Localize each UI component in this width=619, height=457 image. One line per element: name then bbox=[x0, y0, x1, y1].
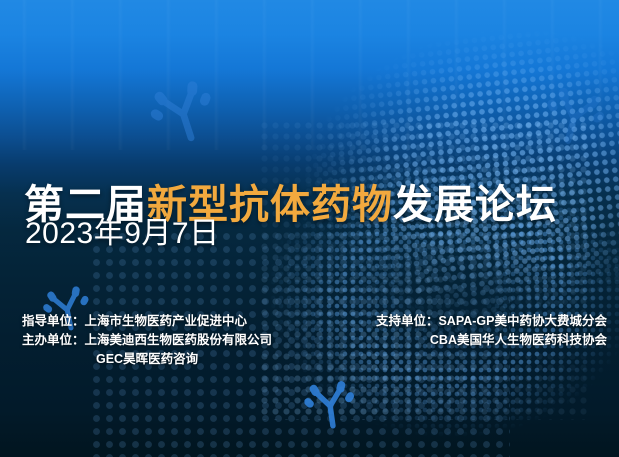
footer-organizers-left: 指导单位：上海市生物医药产业促进中心主办单位：上海美迪西生物医药股份有限公司GE… bbox=[22, 312, 272, 369]
antibody-icon-right-edge bbox=[539, 82, 609, 152]
footer-supporters-right: 支持单位：SAPA-GP美中药协大费城分会CBA美国华人生物医药科技协会 bbox=[376, 312, 607, 350]
footer-line-label: 主办单位： bbox=[22, 333, 85, 347]
event-date: 2023年9月7日 bbox=[25, 216, 220, 252]
antibody-icon-bottom-center bbox=[302, 377, 358, 433]
footer-line-value: 上海美迪西生物医药股份有限公司 bbox=[85, 333, 273, 347]
footer-line: 支持单位：SAPA-GP美中药协大费城分会 bbox=[376, 312, 607, 331]
title-suffix: 发展论坛 bbox=[393, 183, 557, 227]
footer-line-label: 指导单位： bbox=[22, 314, 85, 328]
halftone-swirl-pattern bbox=[259, 120, 589, 420]
footer-line-value: GEC昊晖医药咨询 bbox=[96, 352, 198, 366]
antibody-icon-top-left bbox=[144, 74, 222, 152]
light-streaks-overlay bbox=[0, 0, 619, 150]
footer-line-value: SAPA-GP美中药协大费城分会 bbox=[438, 314, 607, 328]
conference-poster: 第二届新型抗体药物发展论坛 2023年9月7日 指导单位：上海市生物医药产业促进… bbox=[0, 0, 619, 457]
footer-line: CBA美国华人生物医药科技协会 bbox=[376, 331, 607, 350]
footer-line: GEC昊晖医药咨询 bbox=[22, 350, 272, 369]
footer-line-value: 上海市生物医药产业促进中心 bbox=[85, 314, 248, 328]
footer-line-label: 支持单位： bbox=[376, 314, 439, 328]
footer-line: 指导单位：上海市生物医药产业促进中心 bbox=[22, 312, 272, 331]
footer-line: 主办单位：上海美迪西生物医药股份有限公司 bbox=[22, 331, 272, 350]
footer-line-value: CBA美国华人生物医药科技协会 bbox=[430, 333, 607, 347]
